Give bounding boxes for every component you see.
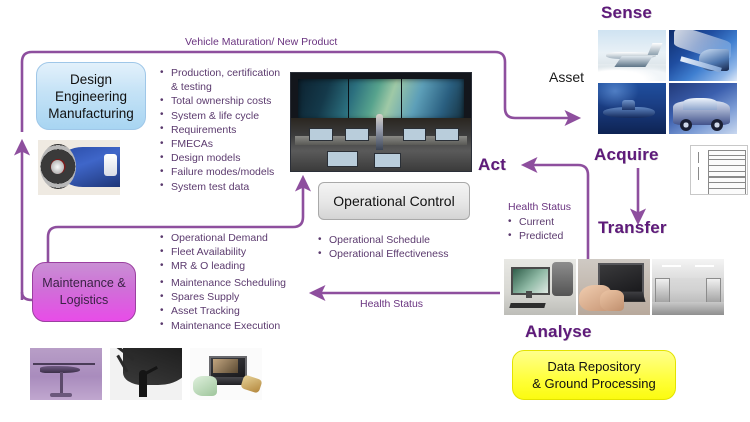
vehicle-maturation-label: Vehicle Maturation/ New Product	[185, 32, 337, 50]
maint-bullet-g1-2: MR & O leading	[160, 259, 268, 273]
engine-blade-photo	[669, 30, 737, 81]
operational-control-bullet-list: Operational Schedule Operational Effecti…	[318, 233, 448, 261]
design-bullet-3: Requirements	[160, 123, 289, 137]
design-bullet-1: Total ownership costs	[160, 94, 289, 108]
data-repository-box[interactable]: Data Repository & Ground Processing	[512, 350, 676, 400]
operational-control-box[interactable]: Operational Control	[318, 182, 470, 220]
airliner-photo	[598, 30, 666, 81]
design-line-1: Design	[48, 71, 134, 88]
technician-photo	[110, 348, 182, 400]
health-status-title: Health Status	[508, 201, 571, 213]
health-status-item-0: Current	[508, 215, 571, 229]
control-room-photo	[290, 72, 472, 172]
jet-engine-photo	[38, 140, 120, 195]
maint-bullet-g2-2: Asset Tracking	[160, 304, 286, 318]
health-status-arrow-label: Health Status	[360, 298, 423, 310]
step-label-transfer: Transfer	[598, 218, 667, 238]
health-status-item-1: Predicted	[508, 229, 571, 243]
design-engineering-manufacturing-box[interactable]: Design Engineering Manufacturing	[36, 62, 146, 130]
design-bullet-7: System test data	[160, 180, 289, 194]
maint-bullet-g2-0: Maintenance Scheduling	[160, 276, 286, 290]
vehicle-photo	[669, 83, 737, 134]
health-status-group: Health Status Current Predicted	[508, 201, 571, 243]
maint-bullet-g2-1: Spares Supply	[160, 290, 286, 304]
design-bullet-5: Design models	[160, 151, 289, 165]
step-label-acquire: Acquire	[594, 145, 659, 165]
operational-bullet-1: Operational Effectiveness	[318, 247, 448, 261]
repository-line-2: & Ground Processing	[532, 375, 656, 392]
maint-bullet-g2-3: Maintenance Execution	[160, 319, 286, 333]
design-line-2: Engineering	[48, 88, 134, 105]
workstation-photo	[504, 259, 576, 315]
step-label-sense: Sense	[601, 3, 652, 23]
schematic-diagram-thumbnail	[690, 145, 748, 195]
step-label-act: Act	[478, 155, 506, 175]
submarine-photo	[598, 83, 666, 134]
maintenance-line-1: Maintenance &	[42, 275, 125, 292]
server-room-photo	[652, 259, 724, 315]
maintenance-line-2: Logistics	[42, 292, 125, 309]
design-bullet-2: System & life cycle	[160, 109, 289, 123]
maint-bullet-g1-0: Operational Demand	[160, 231, 268, 245]
design-bullet-0: Production, certification & testing	[160, 66, 289, 94]
operational-demand-bullet-list: Operational Demand Fleet Availability MR…	[160, 231, 268, 274]
handheld-laptop-photo	[190, 348, 262, 400]
operational-control-label: Operational Control	[333, 193, 454, 209]
maintenance-bullet-list: Maintenance Scheduling Spares Supply Ass…	[160, 276, 286, 333]
diagram-canvas: Vehicle Maturation/ New Product Design E…	[0, 0, 750, 422]
maint-bullet-g1-1: Fleet Availability	[160, 245, 268, 259]
repository-line-1: Data Repository	[532, 358, 656, 375]
maintenance-logistics-box[interactable]: Maintenance & Logistics	[32, 262, 136, 322]
design-bullet-4: FMECAs	[160, 137, 289, 151]
design-bullet-6: Failure modes/models	[160, 165, 289, 179]
asset-label: Asset	[549, 69, 584, 85]
laptop-hands-photo	[578, 259, 650, 315]
design-bullet-list: Production, certification & testing Tota…	[160, 66, 289, 194]
design-line-3: Manufacturing	[48, 105, 134, 122]
helicopter-photo	[30, 348, 102, 400]
operational-bullet-0: Operational Schedule	[318, 233, 448, 247]
step-label-analyse: Analyse	[525, 322, 592, 342]
